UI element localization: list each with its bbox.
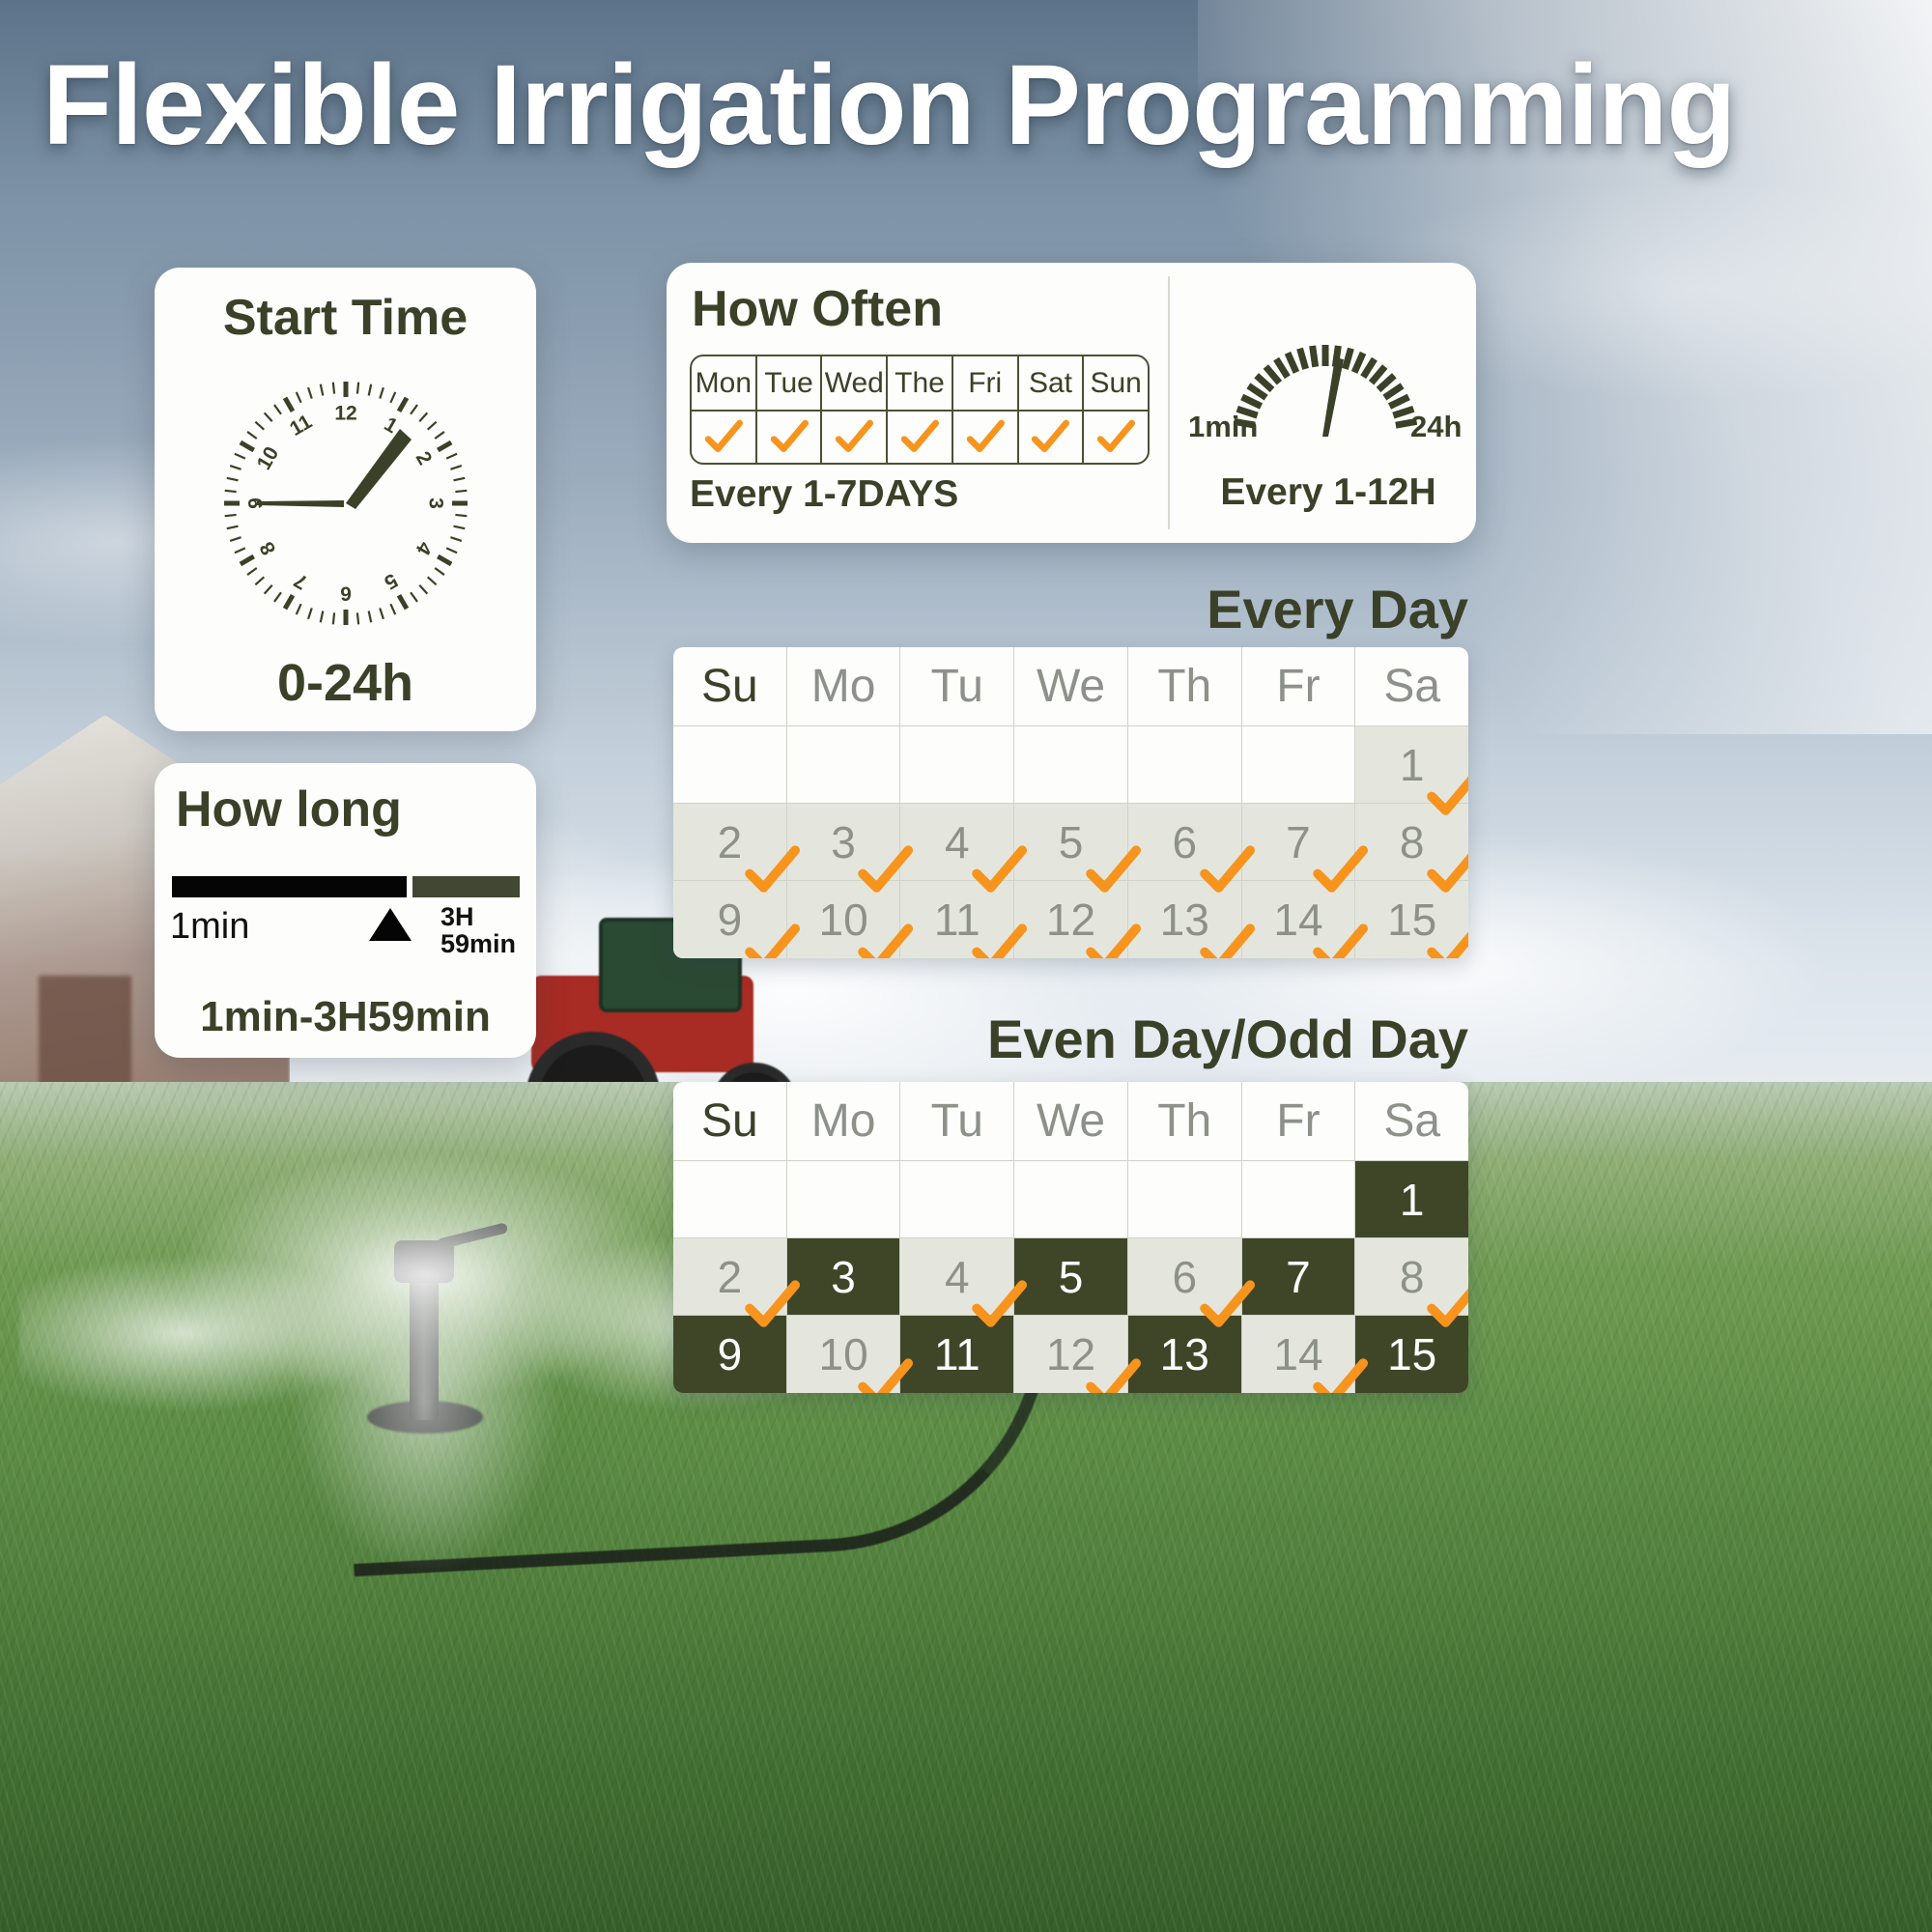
calendar-day-number: 7 [1286,1251,1311,1303]
calendar-header-we: We [1014,647,1128,726]
gauge-tick [1276,359,1288,378]
clock-minor-tick [455,515,467,516]
clock-minor-tick [264,412,271,421]
page-title: Flexible Irrigation Programming [43,44,1897,167]
calendar-day-2[interactable]: 2 [673,804,787,881]
calendar-day-number: 3 [831,816,856,868]
barn-door [39,976,131,1092]
calendar-day-15[interactable]: 15 [1355,1316,1468,1393]
clock-minor-tick [450,537,461,541]
card-divider [1168,276,1170,529]
calendar-day-number: 11 [934,1328,980,1380]
weekday-checkbox-sun[interactable] [1084,412,1148,463]
weekday-header-sat: Sat [1019,356,1085,410]
calendar-day-11[interactable]: 11 [900,1316,1014,1393]
calendar-header-sa: Sa [1355,1082,1468,1161]
clock-numeral: 8 [255,537,280,558]
calendar-day-8[interactable]: 8 [1355,804,1468,881]
weekday-header-row: MonTueWedTheFriSatSun [692,356,1148,412]
gauge-tick [1372,366,1385,383]
clock-minor-tick [224,491,236,492]
calendar-day-number: 10 [818,894,867,946]
clock-minor-tick [368,611,371,623]
calendar-day-9[interactable]: 9 [673,881,787,958]
calendar-week-row: 1 [673,1161,1468,1238]
calendar-day-number: 15 [1387,894,1436,946]
gauge-tick [1288,353,1296,372]
weekday-header-mon: Mon [692,356,757,410]
gauge-tick [1265,366,1279,383]
clock-minor-tick [320,611,323,623]
weekday-checkbox-sat[interactable] [1019,412,1085,463]
calendar-day-7[interactable]: 7 [1242,1238,1356,1316]
calendar-day-number: 13 [1160,894,1209,946]
how-long-range-label: 1min-3H59min [155,993,536,1041]
clock-minor-tick [411,405,417,414]
gauge-min-label: 1min [1188,410,1258,444]
calendar-header-su: Su [673,647,787,726]
calendar-day-number: 14 [1273,894,1322,946]
calendar-day-empty [900,1161,1014,1238]
clock-minor-tick [380,387,384,398]
clock-minor-tick [226,478,238,481]
clock-minor-tick [411,592,417,602]
gauge-tick [1300,349,1306,369]
start-time-title: Start Time [155,289,536,347]
duration-min-label: 1min [170,906,249,948]
clock-minor-tick [390,392,395,403]
calendar-day-13[interactable]: 13 [1128,881,1242,958]
clock-major-tick [399,398,407,412]
calendar-day-number: 5 [1059,1251,1084,1303]
calendar-day-empty [1014,726,1128,804]
calendar-day-12[interactable]: 12 [1014,881,1128,958]
every-hours-label: Every 1-12H [1207,471,1449,514]
clock-minor-tick [273,405,280,414]
clock-minor-tick [230,537,241,541]
clock-numeral: 6 [340,582,352,605]
calendar-day-empty [673,726,787,804]
calendar-day-number: 3 [831,1251,856,1303]
calendar-day-15[interactable]: 15 [1355,881,1468,958]
clock-minute-hand [346,429,412,509]
clock-minor-tick [308,387,312,398]
duration-max-line1: 3H [440,902,474,931]
gauge-max-label: 24h [1410,410,1462,444]
calendar-week-row: 9101112131415 [673,881,1468,958]
weekday-header-wed: Wed [822,356,888,410]
calendar-day-8[interactable]: 8 [1355,1238,1468,1316]
calendar-day-number: 1 [1400,739,1425,791]
calendar-day-number: 4 [945,816,970,868]
gauge-tick [1248,385,1265,397]
calendar-header-th: Th [1128,647,1242,726]
start-time-card: Start Time 121234567891011 0-24h [155,268,536,731]
clock-minor-tick [332,612,333,624]
calendar-day-14[interactable]: 14 [1242,1316,1356,1393]
clock-minor-tick [264,585,271,594]
calendar-day-number: 10 [818,1328,867,1380]
calendar-day-empty [1128,726,1242,804]
clock-minor-tick [296,392,300,403]
gauge-tick [1378,376,1394,390]
calendar-day-number: 6 [1172,1251,1197,1303]
gauge-tick [1363,359,1375,378]
calendar-day-empty [1014,1161,1128,1238]
calendar-day-1[interactable]: 1 [1355,1161,1468,1238]
calendar-day-12[interactable]: 12 [1014,1316,1128,1393]
calendar-day-empty [1128,1161,1242,1238]
clock-minor-tick [368,384,371,396]
clock-minor-tick [356,383,357,394]
calendar-day-9[interactable]: 9 [673,1316,787,1393]
calendar-day-empty [900,726,1014,804]
calendar-day-number: 12 [1046,894,1095,946]
clock-minor-tick [247,432,257,439]
calendar-day-6[interactable]: 6 [1128,804,1242,881]
clock-minor-tick [419,585,427,594]
clock-major-tick [438,556,451,564]
clock-minor-tick [296,604,300,614]
clock-major-tick [240,442,253,450]
calendar-day-4[interactable]: 4 [900,1238,1014,1316]
clock-major-tick [438,442,451,450]
duration-slider-remainder [412,876,520,897]
gauge-needle [1322,357,1344,437]
calendar-day-3[interactable]: 3 [787,804,901,881]
calendar-day-14[interactable]: 14 [1242,881,1356,958]
weekday-checkbox-mon[interactable] [692,412,757,463]
calendar-day-1[interactable]: 1 [1355,726,1468,804]
calendar-day-number: 13 [1160,1328,1209,1380]
clock-minor-tick [435,568,444,575]
calendar-header-mo: Mo [787,1082,901,1161]
duration-slider-fill [172,876,407,897]
clock-minor-tick [435,432,444,439]
calendar-day-7[interactable]: 7 [1242,804,1356,881]
clock-minor-tick [450,466,461,469]
clock-numeral: 7 [290,569,311,594]
calendar-day-number: 2 [718,816,743,868]
check-icon [770,418,809,457]
clock-hour-hand [257,500,344,507]
calendar-day-number: 5 [1059,816,1084,868]
clock-numeral: 10 [252,443,283,474]
calendar-header-tu: Tu [900,647,1014,726]
weekday-checkbox-tue[interactable] [757,412,823,463]
calendar-day-6[interactable]: 6 [1128,1238,1242,1316]
calendar-week-row: 2345678 [673,804,1468,881]
check-icon [900,418,939,457]
calendar-header-su: Su [673,1082,787,1161]
calendar-day-number: 6 [1172,816,1197,868]
clock-major-tick [285,398,293,412]
clock-minor-tick [446,548,457,553]
calendar-day-empty [673,1161,787,1238]
calendar-header-we: We [1014,1082,1128,1161]
clock-minor-tick [332,383,333,394]
calendar-day-13[interactable]: 13 [1128,1316,1242,1393]
calendar-day-11[interactable]: 11 [900,881,1014,958]
clock-minor-tick [320,384,323,396]
calendar-day-empty [787,726,901,804]
clock-minor-tick [419,412,427,421]
every-days-label: Every 1-7DAYS [690,473,958,516]
every-day-heading: Every Day [869,578,1468,640]
clock-minor-tick [455,491,467,492]
calendar-header-fr: Fr [1242,1082,1356,1161]
clock-minor-tick [390,604,395,614]
calendar-day-4[interactable]: 4 [900,804,1014,881]
calendar-day-empty [1242,1161,1356,1238]
calendar-day-10[interactable]: 10 [787,881,901,958]
calendar-day-number: 15 [1387,1328,1436,1380]
clock-major-tick [399,595,407,609]
how-often-card: How Often MonTueWedTheFriSatSun Every 1-… [667,263,1476,543]
clock-minor-tick [234,548,244,553]
weekday-checkbox-the[interactable] [888,412,953,463]
calendar-header-tu: Tu [900,1082,1014,1161]
weekday-header-the: The [888,356,953,410]
weekday-selection-table[interactable]: MonTueWedTheFriSatSun [690,355,1150,465]
weekday-header-sun: Sun [1084,356,1148,410]
gauge-tick [1313,346,1316,367]
calendar-day-empty [1242,726,1356,804]
calendar-day-number: 8 [1400,816,1425,868]
calendar-header-mo: Mo [787,647,901,726]
weekday-check-row[interactable] [692,412,1148,463]
calendar-day-number: 9 [718,1328,743,1380]
gauge-tick [1354,353,1363,372]
calendar-week-row: 1 [673,726,1468,804]
clock-minor-tick [255,422,264,430]
calendar-header-sa: Sa [1355,647,1468,726]
even-odd-calendar[interactable]: SuMoTuWeThFrSa123456789101112131415 [673,1082,1468,1393]
even-odd-heading: Even Day/Odd Day [734,1008,1468,1070]
weekday-header-tue: Tue [757,356,823,410]
duration-max-line2: 59min [440,929,516,958]
calendar-week-row: 9101112131415 [673,1316,1468,1393]
gauge-tick [1384,385,1402,397]
gauge-tick [1345,349,1350,369]
clock-numeral: 11 [286,411,316,440]
clock-numeral: 12 [334,403,356,425]
calendar-day-5[interactable]: 5 [1014,1238,1128,1316]
clock-minor-tick [230,466,241,469]
calendar-day-number: 14 [1273,1328,1322,1380]
calendar-day-number: 2 [718,1251,743,1303]
clock-numeral: 5 [380,569,401,594]
calendar-day-2[interactable]: 2 [673,1238,787,1316]
calendar-day-3[interactable]: 3 [787,1238,901,1316]
clock-minor-tick [356,612,357,624]
calendar-day-number: 12 [1046,1328,1095,1380]
calendar-header-row: SuMoTuWeThFrSa [673,1082,1468,1161]
clock-minor-tick [446,454,457,459]
weekday-header-fri: Fri [953,356,1019,410]
clock-minor-tick [273,592,280,602]
start-time-range-label: 0-24h [155,653,536,713]
duration-slider-thumb[interactable] [369,908,412,941]
clock-minor-tick [234,454,244,459]
gauge-tick [1390,397,1409,407]
how-long-title: How long [176,781,402,838]
calendar-day-empty [787,1161,901,1238]
clock-numeral: 2 [411,448,436,469]
calendar-day-number: 11 [934,894,980,946]
calendar-header-row: SuMoTuWeThFrSa [673,647,1468,726]
check-icon [1096,418,1135,457]
clock-minor-tick [247,568,257,575]
clock-minor-tick [226,526,238,529]
calendar-day-number: 1 [1400,1174,1425,1226]
clock-major-tick [285,595,293,609]
clock-minor-tick [255,577,264,584]
duration-max-label: 3H 59min [440,904,516,957]
calendar-day-number: 4 [945,1251,970,1303]
calendar-week-row: 2345678 [673,1238,1468,1316]
weekday-checkbox-fri[interactable] [953,412,1019,463]
calendar-day-number: 7 [1286,816,1311,868]
check-icon [966,418,1005,457]
calendar-day-5[interactable]: 5 [1014,804,1128,881]
check-icon [704,418,743,457]
clock-numeral: 4 [411,538,436,559]
how-often-title: How Often [692,280,943,338]
clock-minor-tick [453,526,465,529]
gauge-tick [1242,397,1262,407]
clock-minor-tick [308,608,312,618]
clock-minor-tick [224,515,236,516]
calendar-day-number: 9 [718,894,743,946]
calendar-day-number: 8 [1400,1251,1425,1303]
clock-minor-tick [453,478,465,481]
analog-clock-icon: 121234567891011 [201,358,491,648]
every-day-calendar[interactable]: SuMoTuWeThFrSa123456789101112131415 [673,647,1468,958]
calendar-header-th: Th [1128,1082,1242,1161]
clock-numeral: 3 [424,497,446,509]
clock-minor-tick [427,577,436,584]
weekday-checkbox-wed[interactable] [822,412,888,463]
clock-minor-tick [427,422,436,430]
check-icon [1031,418,1069,457]
duration-slider-track[interactable] [172,876,520,897]
calendar-header-fr: Fr [1242,647,1356,726]
gauge-tick [1257,376,1272,390]
calendar-day-10[interactable]: 10 [787,1316,901,1393]
clock-minor-tick [380,608,384,618]
how-long-card: How long 1min 3H 59min 1min-3H59min [155,763,536,1058]
clock-major-tick [240,556,253,564]
check-icon [835,418,873,457]
